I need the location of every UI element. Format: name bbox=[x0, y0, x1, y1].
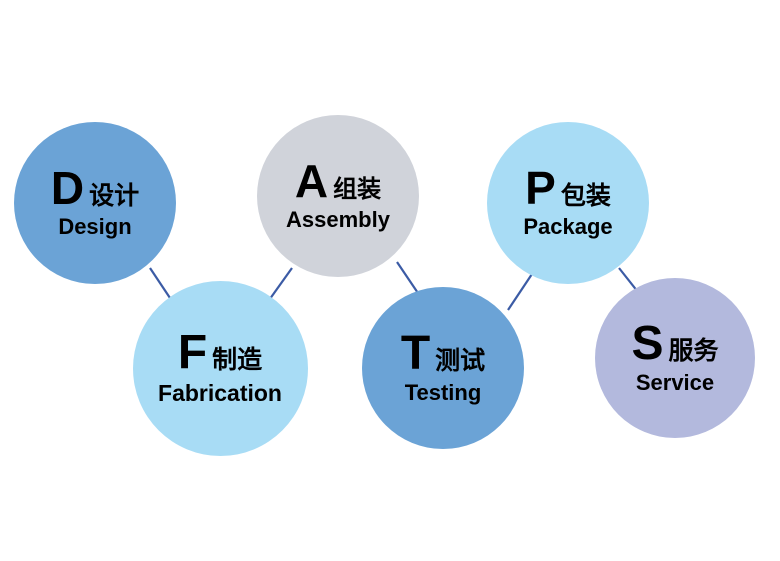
node-package-chinese-label: 包装 bbox=[561, 183, 611, 208]
node-service-english-label: Service bbox=[636, 371, 714, 395]
node-fabrication-initial: F bbox=[178, 330, 207, 376]
node-assembly-english-label: Assembly bbox=[286, 208, 390, 232]
node-assembly-initial: A bbox=[295, 160, 328, 204]
node-testing-chinese-label: 测试 bbox=[435, 348, 485, 373]
node-service-heading: S 服务 bbox=[631, 321, 718, 367]
node-package-english-label: Package bbox=[523, 215, 612, 239]
node-assembly-heading: A 组装 bbox=[295, 160, 381, 204]
node-design-english-label: Design bbox=[58, 215, 131, 239]
node-service-chinese-label: 服务 bbox=[669, 338, 719, 363]
node-design-heading: D 设计 bbox=[51, 167, 139, 211]
node-testing-english-label: Testing bbox=[405, 381, 482, 405]
node-fabrication-chinese-label: 制造 bbox=[212, 347, 262, 372]
node-assembly-chinese-label: 组装 bbox=[333, 177, 381, 201]
node-package[interactable]: P 包装 Package bbox=[487, 122, 649, 284]
node-assembly[interactable]: A 组装 Assembly bbox=[257, 115, 419, 277]
node-fabrication[interactable]: F 制造 Fabrication bbox=[133, 281, 308, 456]
node-package-initial: P bbox=[525, 167, 556, 211]
node-design[interactable]: D 设计 Design bbox=[14, 122, 176, 284]
node-service[interactable]: S 服务 Service bbox=[595, 278, 755, 438]
node-testing-initial: T bbox=[401, 331, 430, 377]
node-testing-heading: T 测试 bbox=[401, 331, 485, 377]
node-fabrication-english-label: Fabrication bbox=[158, 381, 282, 406]
node-testing[interactable]: T 测试 Testing bbox=[362, 287, 524, 449]
node-design-initial: D bbox=[51, 167, 84, 211]
node-design-chinese-label: 设计 bbox=[89, 183, 139, 208]
diagram-canvas: D 设计 Design F 制造 Fabrication A 组装 Assemb… bbox=[0, 0, 780, 561]
node-package-heading: P 包装 bbox=[525, 167, 611, 211]
node-fabrication-heading: F 制造 bbox=[178, 330, 262, 376]
node-service-initial: S bbox=[631, 321, 663, 367]
